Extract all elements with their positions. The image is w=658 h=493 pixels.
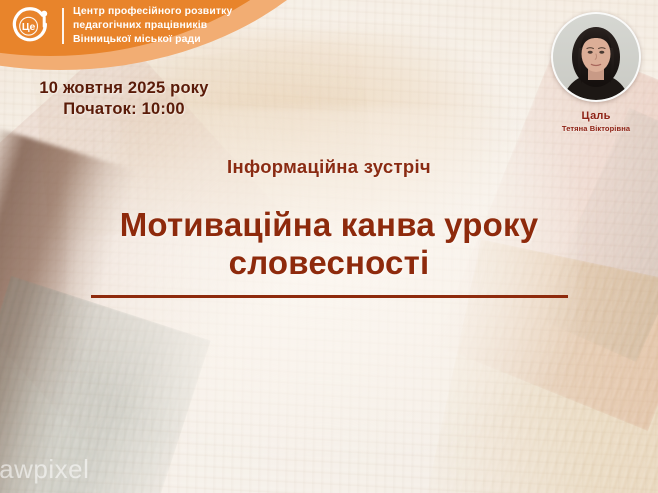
event-date: 10 жовтня 2025 року xyxy=(24,78,224,99)
event-datetime-block: 10 жовтня 2025 року Початок: 10:00 xyxy=(24,78,224,120)
event-title-line-2: словесності xyxy=(58,244,600,282)
logo-divider xyxy=(62,8,64,44)
svg-text:Цe: Цe xyxy=(22,21,36,33)
event-title: Мотиваційна канва уроку словесності xyxy=(58,206,600,283)
event-title-line-1: Мотиваційна канва уроку xyxy=(58,206,600,244)
header-banner-content: Цe Центр професійного розвитку педагогіч… xyxy=(8,4,232,48)
organization-logo-icon: Цe xyxy=(8,4,52,48)
title-divider xyxy=(91,295,568,298)
presenter-given-name: Тетяна Вікторівна xyxy=(548,124,644,133)
organization-name-line-2: педагогічних працівників xyxy=(73,20,207,31)
presenter-surname: Цаль xyxy=(548,110,644,122)
presenter-block: Цаль Тетяна Вікторівна xyxy=(548,12,644,133)
organization-name-line-1: Центр професійного розвитку xyxy=(73,6,232,17)
presenter-avatar xyxy=(551,12,641,102)
event-start-time: Початок: 10:00 xyxy=(24,99,224,120)
event-subtitle: Інформаційна зустріч xyxy=(0,156,658,178)
announcement-slide: Цe Центр професійного розвитку педагогіч… xyxy=(0,0,658,493)
organization-name-line-3: Вінницької міської ради xyxy=(73,34,201,45)
organization-name: Центр професійного розвитку педагогічних… xyxy=(73,5,232,46)
